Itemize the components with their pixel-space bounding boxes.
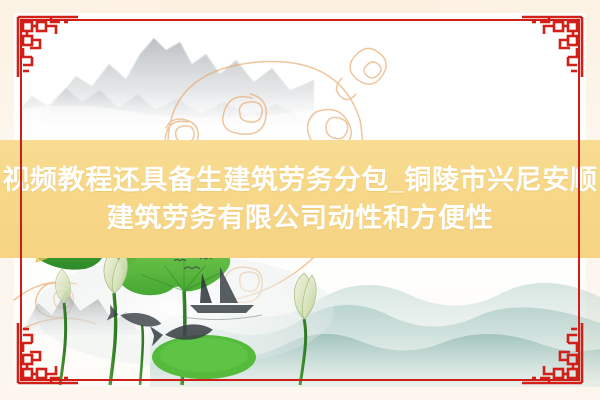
title-line-1: 视频教程还具备生建筑劳务分包_铜陵市兴尼安顺: [2, 163, 597, 197]
ink-wash-mountains: [14, 24, 314, 136]
title-band: 视频教程还具备生建筑劳务分包_铜陵市兴尼安顺 建筑劳务有限公司动性和方便性: [0, 140, 600, 258]
title-line-2: 建筑劳务有限公司动性和方便性: [107, 201, 493, 235]
banner-image: 视频教程还具备生建筑劳务分包_铜陵市兴尼安顺 建筑劳务有限公司动性和方便性: [0, 0, 600, 400]
